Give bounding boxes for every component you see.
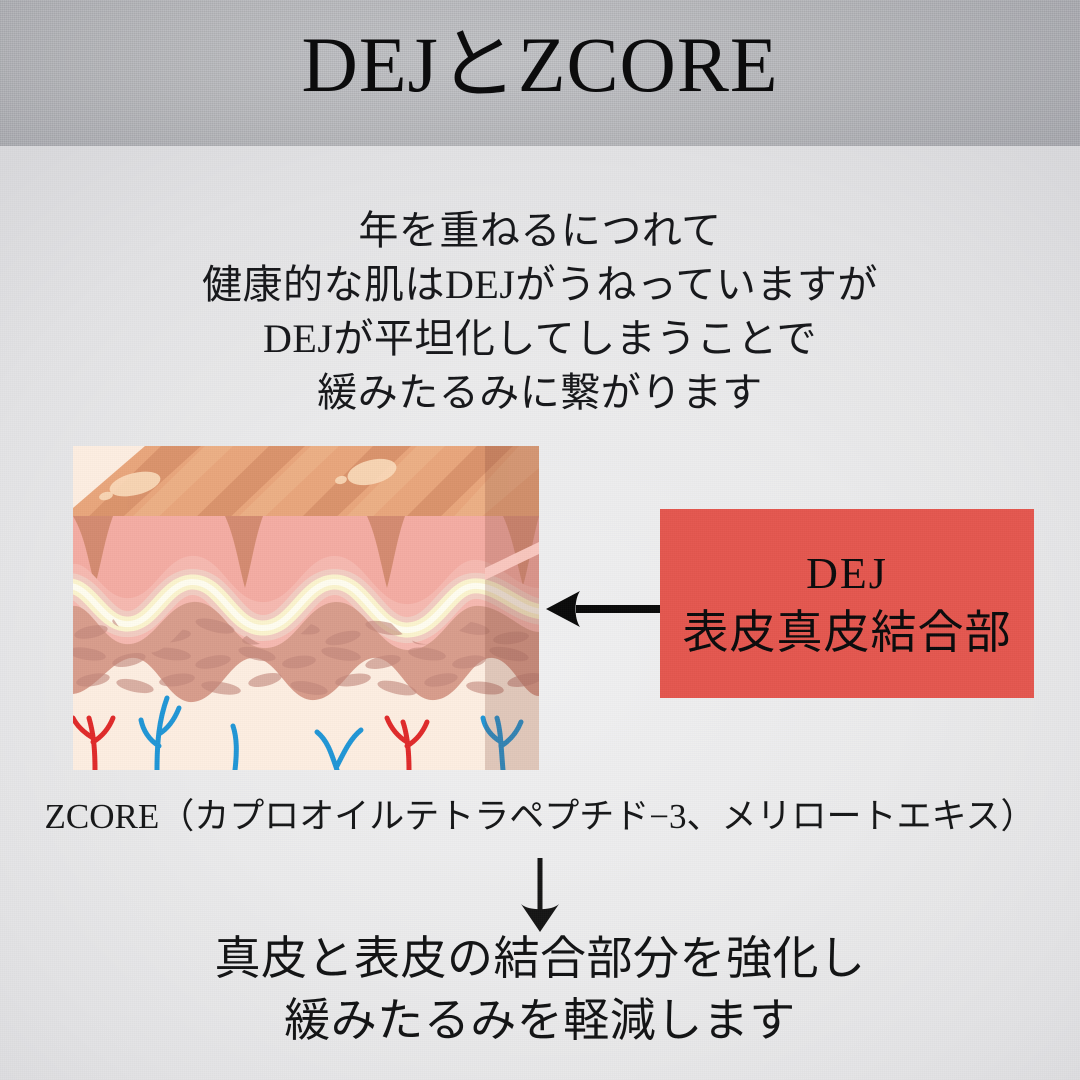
slide-root: DEJとZCORE 年を重ねるにつれて 健康的な肌はDEJがうねっていますが D… xyxy=(0,0,1080,1080)
intro-line-4: 緩みたるみに繋がります xyxy=(0,366,1080,420)
intro-line-3: DEJが平坦化してしまうことで xyxy=(0,312,1080,366)
intro-line-2: 健康的な肌はDEJがうねっていますが xyxy=(0,258,1080,312)
skin-cross-section-illustration xyxy=(73,446,539,770)
conclusion-line-2: 緩みたるみを軽減します xyxy=(0,990,1080,1052)
intro-paragraph: 年を重ねるにつれて 健康的な肌はDEJがうねっていますが DEJが平坦化してしま… xyxy=(0,204,1080,420)
arrow-down-icon xyxy=(508,858,572,932)
arrow-left-icon xyxy=(546,588,664,630)
dej-callout-line-2: 表皮真皮結合部 xyxy=(683,603,1012,663)
conclusion-line-1: 真皮と表皮の結合部分を強化し xyxy=(0,928,1080,990)
page-title: DEJとZCORE xyxy=(0,26,1080,104)
conclusion-paragraph: 真皮と表皮の結合部分を強化し 緩みたるみを軽減します xyxy=(0,928,1080,1052)
dej-callout-line-1: DEJ xyxy=(806,545,888,603)
intro-line-1: 年を重ねるにつれて xyxy=(0,204,1080,258)
zcore-ingredient-caption: ZCORE（カプロオイルテトラペプチド−3、メリロートエキス） xyxy=(0,794,1080,840)
dej-callout-box: DEJ 表皮真皮結合部 xyxy=(660,509,1034,698)
